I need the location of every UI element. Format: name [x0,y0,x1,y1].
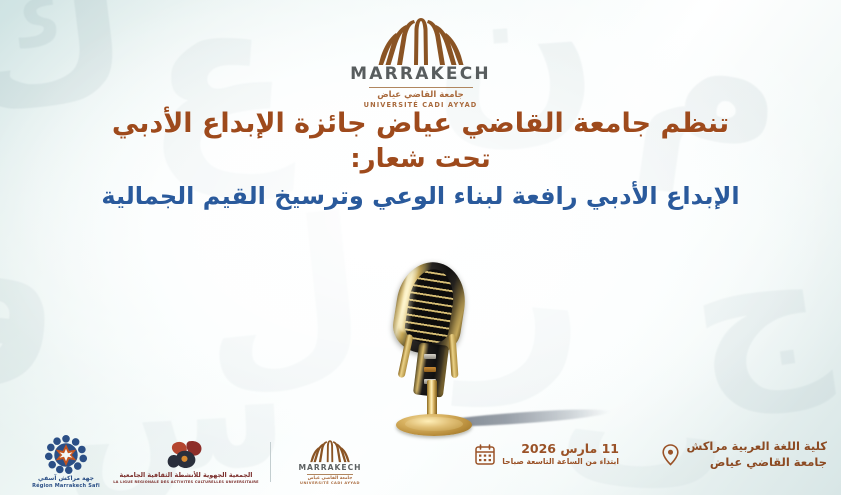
partner-wordmark: MARRAKECH [299,463,362,472]
partner-arabic-name: جهة مراكش آسفي [38,475,94,483]
headline-block: تنظم جامعة القاضي عياض جائزة الإبداع الأ… [0,108,841,213]
crest-wordmark: MARRAKECH [331,64,511,84]
watermark-glyph: ج [678,207,836,409]
bottom-bar: كلية اللغة العربية مراكش جامعة القاضي عي… [0,425,841,495]
headline-line-1: تنظم جامعة القاضي عياض جائزة الإبداع الأ… [0,108,841,141]
watermark-glyph: ل [191,192,375,398]
location-pin-icon [662,444,679,466]
partner-arabic-name: الجمعية الجهوية للأنشطة الثقافية الجامعي… [120,471,253,479]
partner-logo-universite-cadi-ayyad: MARRAKECH جامعة القاضي عياض UNIVERSITÉ C… [281,439,379,485]
venue-line-2: جامعة القاضي عياض [686,455,827,471]
vintage-microphone-icon [372,262,492,452]
headline-slogan: الإبداع الأدبي رافعة لبناء الوعي وترسيخ … [0,181,841,212]
crest-arabic-name: جامعة القاضي عياض [331,90,511,100]
date-line-1: 11 مارس 2026 [502,441,619,457]
headline-line-2: تحت شعار: [0,143,841,176]
poster-canvas: ك ع ن م و ل ر ج س ب MARRAKECH جامعة القا… [0,0,841,495]
partner-logo-association-culturelle: الجمعية الجهوية للأنشطة الثقافية الجامعي… [112,439,260,484]
partner-logo-region-marrakech-safi: جهة مراكش آسفي Région Marrakech Safi [20,435,112,489]
venue-info: كلية اللغة العربية مراكش جامعة القاضي عي… [662,439,827,470]
microphone-switch [424,367,436,372]
fan-arch-icon [310,439,350,463]
partner-logos: MARRAKECH جامعة القاضي عياض UNIVERSITÉ C… [6,435,379,489]
partner-separator [270,442,271,482]
fan-arch-icon [378,16,464,66]
partner-french-name: Région Marrakech Safi [32,483,100,490]
partner-french-name: UNIVERSITÉ CADI AYYAD [300,481,360,485]
calendar-icon [475,444,495,465]
partner-divider-line [307,474,353,475]
crest-divider [369,87,473,88]
university-crest: MARRAKECH جامعة القاضي عياض UNIVERSITÉ C… [331,16,511,109]
venue-line-1: كلية اللغة العربية مراكش [686,439,827,455]
date-info: 11 مارس 2026 ابتداء من الساعة التاسعة صب… [475,441,619,468]
partner-french-name: LA LIGUE REGIONALE DES ACTIVITES CULTURE… [113,480,259,485]
microphone-switch [424,354,436,359]
date-line-2: ابتداء من الساعة التاسعة صباحا [502,457,619,468]
rosette-star-icon [45,435,87,475]
abstract-blob-icon [163,439,209,471]
